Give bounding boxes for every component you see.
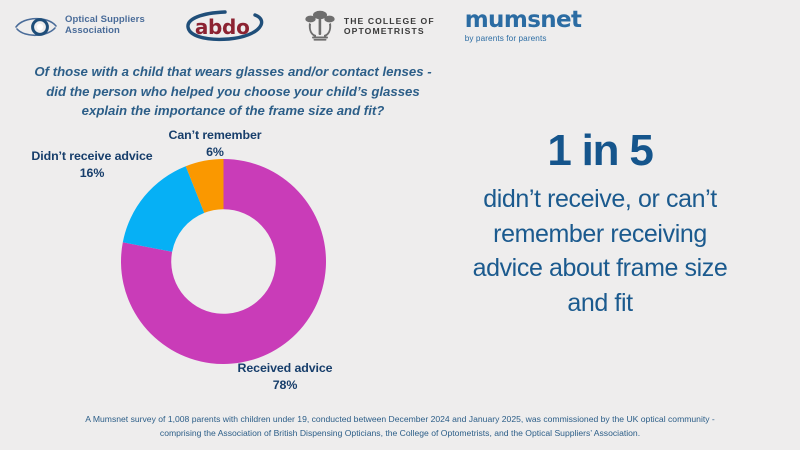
slice-label-cant-remember-text: Can’t remember xyxy=(169,128,262,142)
logo-mumsnet: mumsnet by parents for parents xyxy=(465,9,582,43)
headline-stat: 1 in 5 xyxy=(404,126,796,175)
osa-line-2: Association xyxy=(65,26,145,37)
logo-bar: Optical Suppliers Association abdo xyxy=(0,0,800,52)
headline-body: didn’t receive, or can’t remember receiv… xyxy=(404,182,796,320)
question-line-1: Of those with a child that wears glasses… xyxy=(18,62,448,82)
headline-block: 1 in 5 didn’t receive, or can’t remember… xyxy=(404,126,796,320)
slice-label-received-advice-text: Received advice xyxy=(238,361,333,375)
logo-college-of-optometrists: THE COLLEGE OF OPTOMETRISTS xyxy=(303,9,435,43)
logo-optical-suppliers-association: Optical Suppliers Association xyxy=(14,13,145,39)
mumsnet-tagline: by parents for parents xyxy=(465,34,547,43)
footer-line-2: comprising the Association of British Di… xyxy=(18,426,782,441)
slice-label-received-advice-value: 78% xyxy=(195,377,375,394)
slice-label-didnt-receive-advice-value: 16% xyxy=(12,165,172,182)
college-crest-icon xyxy=(303,9,337,43)
slice-label-received-advice: Received advice 78% xyxy=(195,360,375,393)
headline-body-line-2: remember receiving xyxy=(404,217,796,252)
osa-wordmark: Optical Suppliers Association xyxy=(65,15,145,36)
college-wordmark: THE COLLEGE OF OPTOMETRISTS xyxy=(344,16,435,37)
headline-body-line-3: advice about frame size xyxy=(404,251,796,286)
logo-abdo: abdo xyxy=(181,8,273,44)
donut-chart-svg xyxy=(121,159,326,364)
mumsnet-wordmark: mumsnet xyxy=(465,9,582,32)
abdo-wordmark: abdo xyxy=(195,15,250,39)
headline-body-line-4: and fit xyxy=(404,286,796,321)
headline-body-line-1: didn’t receive, or can’t xyxy=(404,182,796,217)
footer-note: A Mumsnet survey of 1,008 parents with c… xyxy=(0,412,800,441)
osa-eye-icon xyxy=(14,13,58,39)
infographic-canvas: Optical Suppliers Association abdo xyxy=(0,0,800,450)
footer-line-1: A Mumsnet survey of 1,008 parents with c… xyxy=(18,412,782,427)
college-line-2: OPTOMETRISTS xyxy=(344,26,435,36)
college-line-1: THE COLLEGE OF xyxy=(344,16,435,26)
donut-chart: Can’t remember 6% Didn’t receive advice … xyxy=(0,110,450,410)
slice-label-didnt-receive-advice: Didn’t receive advice 16% xyxy=(12,148,172,181)
question-line-2: did the person who helped you choose you… xyxy=(18,82,448,102)
slice-label-didnt-receive-advice-text: Didn’t receive advice xyxy=(31,149,152,163)
